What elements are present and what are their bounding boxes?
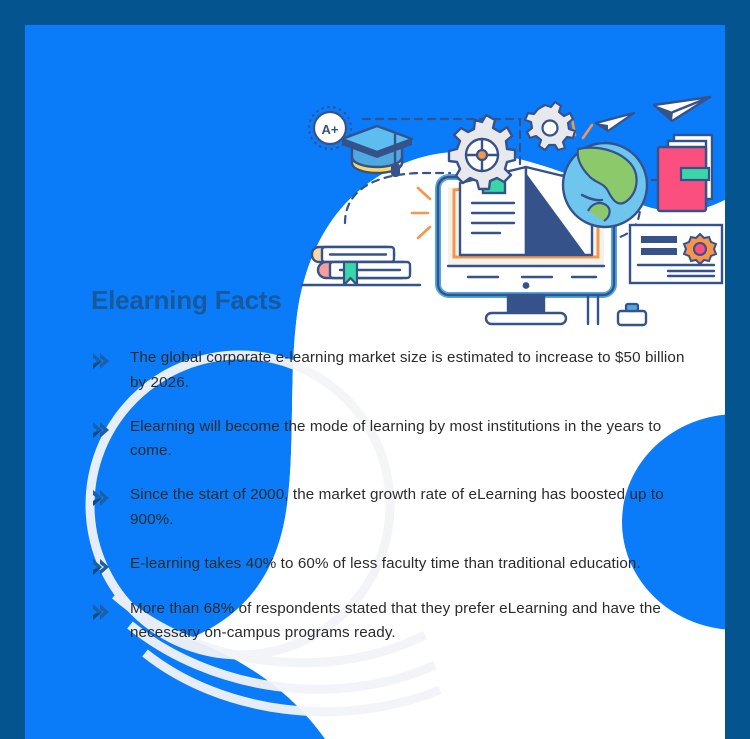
certificate-card-icon bbox=[630, 225, 722, 283]
double-chevron-icon bbox=[91, 419, 113, 441]
facts-list: The global corporate e-learning market s… bbox=[91, 346, 691, 646]
double-chevron-icon bbox=[91, 601, 113, 623]
double-chevron-icon bbox=[91, 556, 113, 578]
double-chevron-icon bbox=[91, 487, 113, 509]
list-item-text: The global corporate e-learning market s… bbox=[130, 346, 690, 396]
dashed-connector-left bbox=[345, 173, 450, 223]
page-title: Elearning Facts bbox=[91, 285, 691, 316]
list-item: Since the start of 2000, the market grow… bbox=[91, 483, 691, 533]
list-item-text: E-learning takes 40% to 60% of less facu… bbox=[130, 552, 641, 577]
frame-top-border bbox=[0, 0, 750, 25]
double-chevron-icon bbox=[91, 350, 113, 372]
globe-icon bbox=[563, 143, 647, 227]
list-item: E-learning takes 40% to 60% of less facu… bbox=[91, 552, 691, 578]
poster-canvas: .nv { stroke:#36528a; stroke-width:2.4; … bbox=[25, 25, 725, 739]
list-item-text: More than 68% of respondents stated that… bbox=[130, 597, 690, 647]
list-item: Elearning will become the mode of learni… bbox=[91, 415, 691, 465]
paper-plane-large-icon bbox=[654, 97, 710, 121]
frame-left-border bbox=[0, 0, 25, 739]
poster-root: .nv { stroke:#36528a; stroke-width:2.4; … bbox=[0, 0, 750, 739]
content-block: Elearning Facts The global corporate e-l… bbox=[91, 285, 691, 665]
list-item: The global corporate e-learning market s… bbox=[91, 346, 691, 396]
list-item-text: Elearning will become the mode of learni… bbox=[130, 415, 690, 465]
books-stack-icon bbox=[302, 247, 420, 285]
list-item: More than 68% of respondents stated that… bbox=[91, 597, 691, 647]
gear-large-icon bbox=[449, 115, 515, 189]
graduation-cap-icon bbox=[342, 126, 412, 177]
spark-rays-left bbox=[412, 188, 430, 238]
frame-right-border bbox=[725, 0, 750, 739]
pink-book-icon bbox=[658, 135, 712, 211]
gear-small-icon bbox=[525, 102, 575, 150]
paper-plane-small-icon bbox=[596, 113, 634, 131]
list-item-text: Since the start of 2000, the market grow… bbox=[130, 483, 690, 533]
grade-badge-label: A+ bbox=[322, 122, 339, 137]
